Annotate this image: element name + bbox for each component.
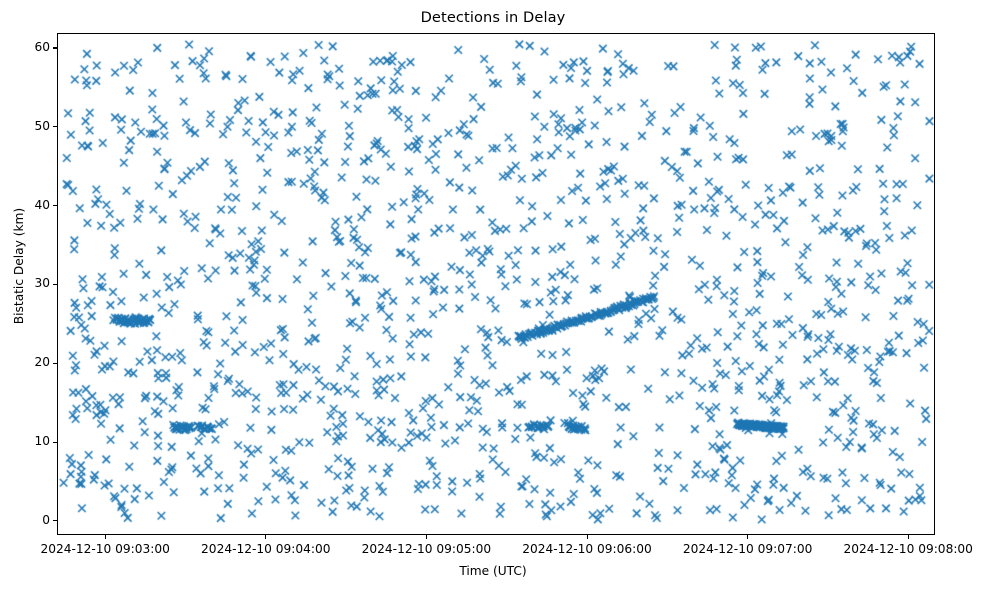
x-tick-label: 2024-12-10 09:07:00 [683, 542, 812, 556]
y-tick-label: 60 [0, 40, 50, 54]
y-tick-mark [53, 442, 57, 443]
x-tick-mark [426, 535, 427, 539]
page-title: Detections in Delay [0, 9, 986, 26]
y-tick-label: 10 [0, 434, 50, 448]
y-tick-label: 0 [0, 513, 50, 527]
y-tick-label: 50 [0, 119, 50, 133]
x-tick-label: 2024-12-10 09:04:00 [201, 542, 330, 556]
x-tick-label: 2024-12-10 09:08:00 [843, 542, 972, 556]
x-tick-mark [587, 535, 588, 539]
plot-area[interactable] [57, 33, 935, 535]
y-tick-mark [53, 520, 57, 521]
x-tick-mark [105, 535, 106, 539]
y-tick-mark [53, 363, 57, 364]
y-tick-mark [53, 205, 57, 206]
x-tick-label: 2024-12-10 09:05:00 [362, 542, 491, 556]
x-tick-mark [747, 535, 748, 539]
y-tick-mark [53, 126, 57, 127]
y-tick-mark [53, 47, 57, 48]
x-tick-mark [265, 535, 266, 539]
y-axis-label: Bistatic Delay (km) [12, 136, 26, 396]
x-tick-mark [908, 535, 909, 539]
x-tick-label: 2024-12-10 09:06:00 [522, 542, 651, 556]
x-axis-label: Time (UTC) [0, 564, 986, 578]
matplotlib-figure: Detections in Delay 0102030405060 2024-1… [0, 0, 986, 590]
scatter-points-canvas [58, 34, 935, 535]
y-tick-mark [53, 284, 57, 285]
x-tick-label: 2024-12-10 09:03:00 [40, 542, 169, 556]
